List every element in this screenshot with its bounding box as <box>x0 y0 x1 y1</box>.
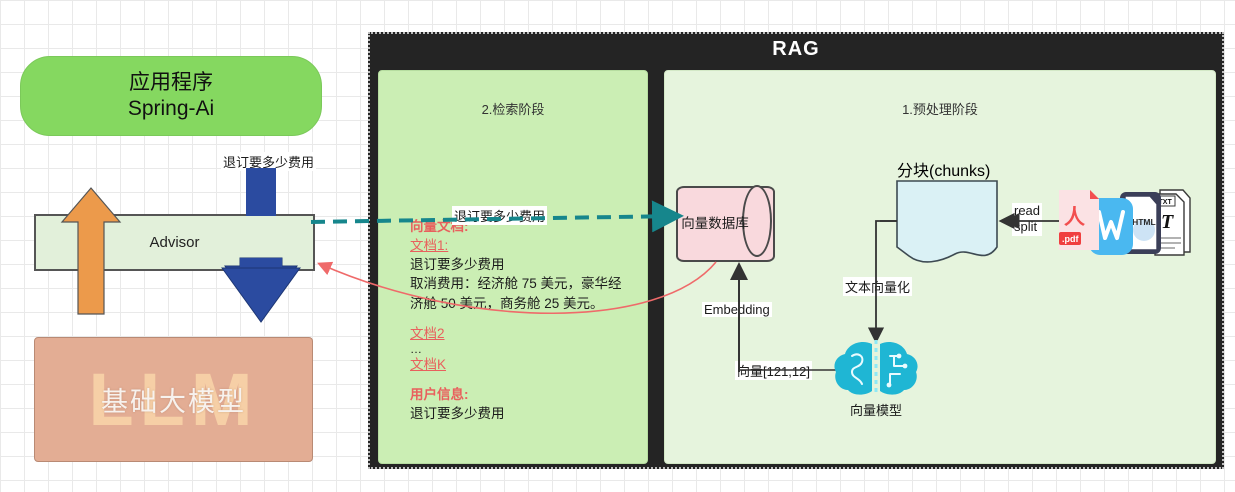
dashed-query-label: 退订要多少费用 <box>452 206 547 225</box>
llm-label: 基础大模型 <box>101 380 246 419</box>
doc1-line1: 退订要多少费用 <box>410 255 640 274</box>
application-line2: Spring-Ai <box>128 96 214 122</box>
chunk-line-3: document:{...} <box>903 225 998 242</box>
doc2-link[interactable]: 文档2 <box>410 324 640 343</box>
spacer-2 <box>410 374 640 385</box>
text-vectorize-label: 文本向量化 <box>843 277 912 296</box>
llm-box: LLM 基础大模型 <box>34 337 313 462</box>
chunk-line-1: document:{...} <box>903 190 998 207</box>
doc1-link[interactable]: 文档1: <box>410 236 640 255</box>
doc1-line2: 取消费用：经济舱 75 美元，豪华经 <box>410 274 640 293</box>
preprocess-stage-title: 1.预处理阶段 <box>665 99 1215 118</box>
vector-database-cylinder: 向量数据库 <box>676 186 771 258</box>
user-info-heading: 用户信息: <box>410 385 640 404</box>
chunk-line-2: document:{...} <box>903 207 998 224</box>
split-label: split <box>1014 219 1040 235</box>
application-line1: 应用程序 <box>129 70 213 96</box>
read-split-label: read split <box>1012 203 1042 236</box>
docs-ellipsis: … <box>410 343 640 355</box>
embedding-label: Embedding <box>702 302 772 317</box>
chunk-lines: document:{...} document:{...} document:{… <box>903 190 998 242</box>
spacer-1 <box>410 313 640 324</box>
vector-database-label: 向量数据库 <box>676 186 754 258</box>
application-box: 应用程序 Spring-Ai <box>20 56 322 136</box>
doc1-line3: 济舱 50 美元，商务舱 25 美元。 <box>410 294 640 313</box>
vector-value-label: 向量[121,12] <box>735 361 812 380</box>
vector-model-label: 向量模型 <box>820 400 932 419</box>
advisor-label: Advisor <box>149 234 199 251</box>
user-info-line: 退订要多少费用 <box>410 404 640 423</box>
read-label: read <box>1014 203 1040 219</box>
diagram-canvas: RAG 2.检索阶段 1.预处理阶段 应用程序 Spring-Ai Adviso… <box>0 0 1235 492</box>
response-arrow-label: res <box>84 254 98 296</box>
preprocess-stage-panel: 1.预处理阶段 <box>664 70 1216 464</box>
query-label-top: 退订要多少费用 <box>221 152 316 171</box>
dock-link[interactable]: 文档K <box>410 355 640 374</box>
retrieved-context-block: 向量文档: 文档1: 退订要多少费用 取消费用：经济舱 75 美元，豪华经 济舱… <box>410 217 640 423</box>
retrieval-stage-title: 2.检索阶段 <box>379 99 647 118</box>
rag-title: RAG <box>368 38 1224 61</box>
chunks-title: 分块(chunks) <box>897 157 990 181</box>
advisor-box: Advisor <box>34 214 315 271</box>
